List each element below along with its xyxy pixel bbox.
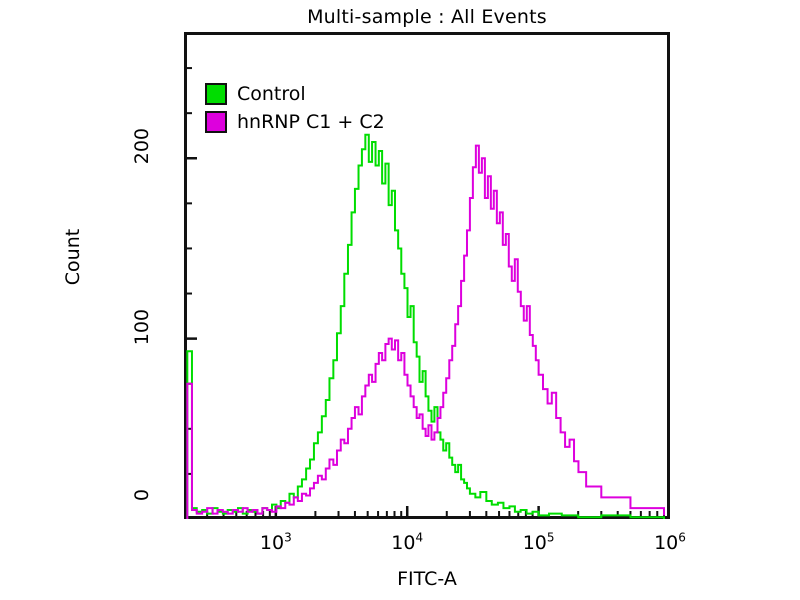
legend-label-control: Control (237, 83, 306, 105)
y-axis-label: Count (62, 177, 84, 337)
x-tick-label-1e5: 105 (499, 532, 579, 554)
y-tick-label-0: 0 (131, 489, 153, 549)
y-tick-label-100: 100 (131, 309, 153, 369)
flow-cytometry-figure: Multi-sample : All Events Control hnRNP … (0, 0, 800, 600)
legend-item-control[interactable]: Control (205, 80, 465, 108)
series-trace-control (187, 135, 664, 519)
legend: Control hnRNP C1 + C2 (205, 80, 465, 136)
series-trace-hnrnp (187, 146, 664, 519)
legend-label-hnrnp: hnRNP C1 + C2 (237, 111, 385, 133)
x-tick-label-1e6: 106 (630, 532, 710, 554)
y-tick-label-200: 200 (131, 128, 153, 188)
chart-title: Multi-sample : All Events (184, 6, 670, 28)
x-axis-label: FITC-A (184, 568, 670, 590)
legend-swatch-control (205, 83, 227, 105)
x-tick-label-1e3: 103 (236, 532, 316, 554)
x-tick-label-1e4: 104 (367, 532, 447, 554)
legend-item-hnrnp[interactable]: hnRNP C1 + C2 (205, 108, 465, 136)
histogram-series (187, 135, 664, 519)
legend-swatch-hnrnp (205, 111, 227, 133)
